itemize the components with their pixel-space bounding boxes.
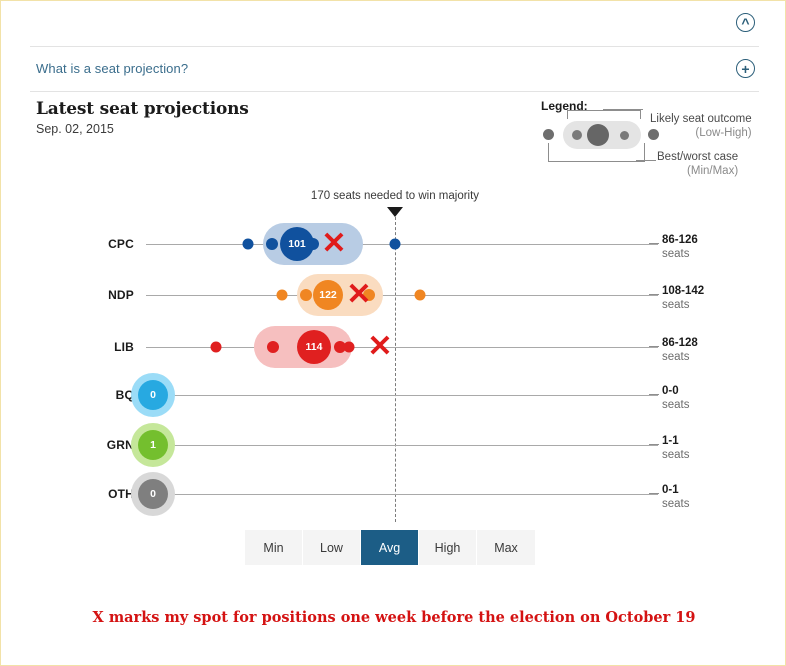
tab-low[interactable]: Low [303, 530, 361, 565]
seat-range-value: 0-1 [662, 483, 690, 497]
row-axis-line [146, 295, 658, 296]
x-annotation-icon: ✕ [346, 280, 371, 310]
seat-range-value: 86-128 [662, 336, 698, 350]
seat-projection-chart: CPC101✕86-126seatsNDP122✕108-142seatsLIB… [1, 1, 786, 666]
seat-range-unit: seats [662, 247, 698, 261]
row-axis-line [146, 347, 658, 348]
min-dot [243, 239, 254, 250]
seat-range-label: 86-126seats [662, 233, 698, 261]
avg-value-bubble[interactable]: 114 [297, 330, 331, 364]
low-dot [300, 289, 312, 301]
seat-range-unit: seats [662, 497, 690, 511]
seat-range-unit: seats [662, 350, 698, 364]
row-axis-line [146, 494, 658, 495]
min-dot [211, 342, 222, 353]
row-axis-line [146, 244, 658, 245]
tab-max[interactable]: Max [477, 530, 535, 565]
low-dot [266, 238, 278, 250]
row-end-tick [649, 444, 659, 445]
tab-high[interactable]: High [419, 530, 477, 565]
statistic-tab-bar: MinLowAvgHighMax [245, 530, 535, 565]
min-dot [277, 290, 288, 301]
avg-value-bubble[interactable]: 122 [313, 280, 343, 310]
seat-range-label: 1-1seats [662, 434, 690, 462]
seat-range-label: 108-142seats [662, 284, 704, 312]
row-axis-line [146, 395, 658, 396]
high-dot [334, 341, 346, 353]
avg-value-bubble[interactable]: 1 [138, 430, 168, 460]
seat-range-unit: seats [662, 298, 704, 312]
avg-value-bubble[interactable]: 0 [138, 380, 168, 410]
row-end-tick [649, 294, 659, 295]
seat-range-label: 0-1seats [662, 483, 690, 511]
row-end-tick [649, 394, 659, 395]
avg-value-bubble[interactable]: 0 [138, 479, 168, 509]
party-label-grn: GRN [34, 438, 134, 452]
seat-range-value: 86-126 [662, 233, 698, 247]
tab-min[interactable]: Min [245, 530, 303, 565]
seat-range-value: 108-142 [662, 284, 704, 298]
seat-range-value: 0-0 [662, 384, 690, 398]
low-dot [267, 341, 279, 353]
row-end-tick [649, 243, 659, 244]
party-label-lib: LIB [34, 340, 134, 354]
party-label-ndp: NDP [34, 288, 134, 302]
party-label-oth: OTH [34, 487, 134, 501]
seat-range-unit: seats [662, 448, 690, 462]
x-annotation-icon: ✕ [367, 332, 392, 362]
max-dot [415, 290, 426, 301]
avg-value-bubble[interactable]: 101 [280, 227, 314, 261]
seat-projection-widget: What is a seat projection? ^ + Latest se… [0, 0, 786, 666]
x-annotation-icon: ✕ [321, 229, 346, 259]
party-label-cpc: CPC [34, 237, 134, 251]
seat-range-value: 1-1 [662, 434, 690, 448]
row-end-tick [649, 493, 659, 494]
tab-avg[interactable]: Avg [361, 530, 419, 565]
row-axis-line [146, 445, 658, 446]
seat-range-label: 0-0seats [662, 384, 690, 412]
seat-range-label: 86-128seats [662, 336, 698, 364]
max-dot [390, 239, 401, 250]
seat-range-unit: seats [662, 398, 690, 412]
row-end-tick [649, 346, 659, 347]
party-label-bq: BQ [34, 388, 134, 402]
figure-caption: X marks my spot for positions one week b… [1, 609, 786, 626]
